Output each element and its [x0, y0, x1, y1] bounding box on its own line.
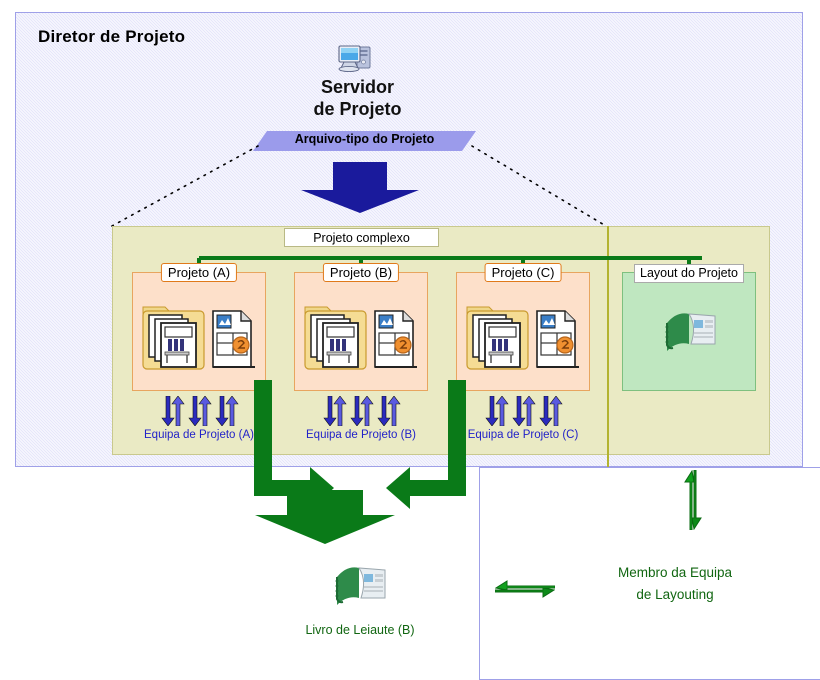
result-label: Livro de Leiaute (B)	[265, 623, 455, 637]
layout-box[interactable]: Layout do Projeto	[622, 272, 756, 391]
complex-project-label: Projeto complexo	[284, 228, 439, 247]
server-label: Servidor de Projeto	[270, 76, 445, 120]
arquivo-tipo-banner-label: Arquivo-tipo do Projeto	[253, 132, 476, 146]
project-box-c[interactable]: Projeto (C)	[456, 272, 590, 391]
double-arrow-vertical-icon	[682, 470, 706, 530]
layout-book-icon	[663, 311, 718, 358]
green-merge-arrows	[215, 380, 505, 545]
project-icons-b	[303, 297, 421, 384]
project-icons-a	[141, 297, 259, 384]
server-label-line1: Servidor	[270, 76, 445, 98]
layout-tag: Layout do Projeto	[634, 264, 744, 283]
legend-label-line1: Membro da Equipa	[575, 562, 775, 584]
project-box-b[interactable]: Projeto (B)	[294, 272, 428, 391]
project-icons-c	[465, 297, 583, 384]
legend-label-line2: de Layouting	[575, 584, 775, 606]
legend-label: Membro da Equipa de Layouting	[575, 562, 775, 606]
project-tag-c: Projeto (C)	[485, 263, 562, 282]
project-tag-b: Projeto (B)	[323, 263, 399, 282]
project-tag-a: Projeto (A)	[161, 263, 237, 282]
page-title: Diretor de Projeto	[38, 27, 185, 47]
server-label-line2: de Projeto	[270, 98, 445, 120]
layout-book-icon	[333, 565, 388, 607]
double-arrow-horizontal-icon	[495, 578, 555, 602]
down-arrow-icon	[300, 162, 420, 214]
project-box-a[interactable]: Projeto (A)	[132, 272, 266, 391]
server-computer-icon	[337, 44, 375, 74]
